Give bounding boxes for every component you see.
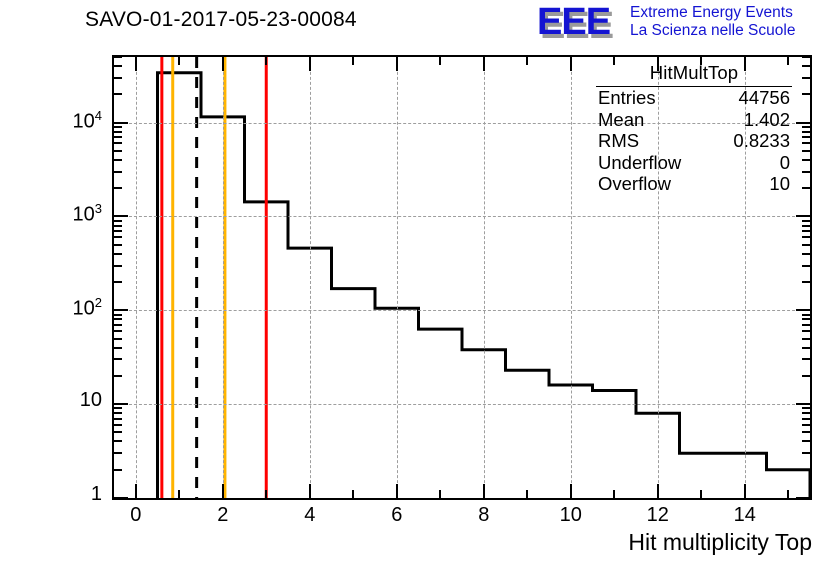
stats-box: HitMultTop Entries44756Mean1.402RMS0.823… xyxy=(596,62,792,197)
y-axis-tick-minor xyxy=(802,159,810,161)
x-gridline xyxy=(136,57,137,498)
y-axis-tick-minor xyxy=(114,469,122,471)
x-axis-tick-major xyxy=(309,484,311,498)
y-axis-tick-minor xyxy=(802,244,810,246)
y-axis-tick-minor xyxy=(802,56,810,58)
y-axis-tick-minor xyxy=(114,440,122,442)
y-axis-tick-major xyxy=(114,309,128,311)
y-axis-tick-major xyxy=(796,309,810,311)
x-axis-tick-minor xyxy=(178,57,180,65)
y-axis-tick-major xyxy=(796,403,810,405)
stats-row: Mean1.402 xyxy=(596,109,792,131)
y-axis-tick-minor xyxy=(802,314,810,316)
x-gridline xyxy=(397,57,398,498)
stats-row-value: 1.402 xyxy=(744,109,790,131)
y-axis-tick-major xyxy=(114,122,128,124)
y-axis-tick-minor xyxy=(114,318,122,320)
y-axis-tick-minor xyxy=(114,131,122,133)
stats-row-value: 10 xyxy=(769,173,790,195)
y-axis-tick-minor xyxy=(802,136,810,138)
stats-row-key: RMS xyxy=(598,130,639,152)
y-axis-tick-minor xyxy=(114,418,122,420)
x-axis-tick-minor xyxy=(265,490,267,498)
y-axis-tick-minor xyxy=(802,220,810,222)
page-title: SAVO-01-2017-05-23-00084 xyxy=(85,8,357,32)
y-axis-tick-minor xyxy=(802,171,810,173)
y-axis-tick-major xyxy=(114,215,128,217)
eee-logo-line1: Extreme Energy Events xyxy=(630,4,795,22)
x-axis-tick-minor xyxy=(787,490,789,498)
x-axis-tick-major xyxy=(483,484,485,498)
x-axis-tick-minor xyxy=(265,57,267,65)
y-axis-tick-major xyxy=(114,403,128,405)
y-axis-tick-minor xyxy=(114,330,122,332)
x-axis-tick-minor xyxy=(526,57,528,65)
y-axis-tick-minor xyxy=(802,131,810,133)
stats-row-key: Underflow xyxy=(598,152,681,174)
x-gridline xyxy=(571,57,572,498)
stats-row-key: Entries xyxy=(598,87,656,109)
y-axis-tick-minor xyxy=(802,187,810,189)
x-gridline xyxy=(223,57,224,498)
stats-row: Underflow0 xyxy=(596,152,792,174)
y-axis-tick-minor xyxy=(114,77,122,79)
y-axis-tick-minor xyxy=(114,142,122,144)
y-axis-tick-minor xyxy=(114,244,122,246)
x-axis-label: 10 xyxy=(541,504,601,527)
y-axis-tick-minor xyxy=(114,65,122,67)
x-axis-tick-minor xyxy=(178,490,180,498)
y-axis-tick-minor xyxy=(802,230,810,232)
y-axis-tick-minor xyxy=(802,126,810,128)
y-axis-tick-minor xyxy=(114,407,122,409)
eee-logo-line2: La Scienza nelle Scuole xyxy=(630,22,795,40)
y-axis-tick-minor xyxy=(114,431,122,433)
y-axis-tick-minor xyxy=(114,253,122,255)
root-canvas: SAVO-01-2017-05-23-00084 EEE Extreme Ene… xyxy=(0,0,836,572)
y-axis-tick-minor xyxy=(114,230,122,232)
y-axis-label: 102 xyxy=(0,295,102,321)
y-axis-label: 10 xyxy=(0,389,102,412)
y-gridline xyxy=(114,310,810,311)
x-axis-tick-minor xyxy=(439,490,441,498)
y-gridline xyxy=(114,216,810,217)
y-axis-tick-major xyxy=(796,215,810,217)
y-axis-tick-minor xyxy=(114,220,122,222)
eee-logo: EEE Extreme Energy Events La Scienza nel… xyxy=(537,2,833,42)
stats-title: HitMultTop xyxy=(596,62,792,87)
y-axis-tick-minor xyxy=(114,56,122,58)
y-axis-tick-minor xyxy=(802,440,810,442)
stats-row-key: Mean xyxy=(598,109,644,131)
x-axis-tick-major xyxy=(483,57,485,71)
y-axis-tick-major xyxy=(796,122,810,124)
y-axis-tick-minor xyxy=(802,324,810,326)
x-axis-tick-major xyxy=(396,484,398,498)
y-axis-tick-minor xyxy=(802,93,810,95)
stats-row: Overflow10 xyxy=(596,173,792,195)
y-axis-label: 103 xyxy=(0,201,102,227)
y-axis-tick-minor xyxy=(802,469,810,471)
y-axis-tick-minor xyxy=(802,142,810,144)
y-axis-tick-major xyxy=(114,497,128,499)
y-axis-tick-minor xyxy=(802,265,810,267)
x-axis-tick-major xyxy=(570,57,572,71)
y-axis-tick-minor xyxy=(802,253,810,255)
y-axis-tick-minor xyxy=(114,358,122,360)
stats-row-value: 0 xyxy=(780,152,790,174)
x-axis-tick-major xyxy=(744,484,746,498)
y-axis-tick-minor xyxy=(802,77,810,79)
y-axis-tick-minor xyxy=(114,236,122,238)
y-axis-tick-minor xyxy=(114,265,122,267)
stats-row: Entries44756 xyxy=(596,87,792,109)
y-axis-tick-minor xyxy=(114,347,122,349)
y-axis-tick-minor xyxy=(114,93,122,95)
y-axis-tick-minor xyxy=(802,330,810,332)
x-axis-title: Hit multiplicity Top xyxy=(628,529,812,556)
y-axis-tick-minor xyxy=(802,347,810,349)
x-axis-tick-minor xyxy=(352,490,354,498)
stats-row: RMS0.8233 xyxy=(596,130,792,152)
x-gridline xyxy=(310,57,311,498)
y-axis-tick-minor xyxy=(114,136,122,138)
y-axis-tick-minor xyxy=(802,281,810,283)
x-axis-label: 14 xyxy=(715,504,775,527)
x-axis-tick-major xyxy=(396,57,398,71)
x-axis-label: 6 xyxy=(367,504,427,527)
x-axis-tick-major xyxy=(309,57,311,71)
y-axis-tick-minor xyxy=(114,150,122,152)
y-axis-tick-minor xyxy=(114,375,122,377)
x-axis-label: 4 xyxy=(280,504,340,527)
y-axis-tick-minor xyxy=(114,314,122,316)
x-axis-tick-minor xyxy=(613,490,615,498)
x-axis-tick-minor xyxy=(352,57,354,65)
y-axis-tick-minor xyxy=(802,358,810,360)
y-axis-tick-minor xyxy=(802,225,810,227)
x-axis-label: 2 xyxy=(193,504,253,527)
x-axis-tick-major xyxy=(135,484,137,498)
eee-logo-letters: EEE xyxy=(537,3,610,41)
y-axis-tick-minor xyxy=(802,236,810,238)
y-axis-tick-minor xyxy=(114,452,122,454)
y-axis-tick-minor xyxy=(114,171,122,173)
x-gridline xyxy=(484,57,485,498)
y-axis-tick-minor xyxy=(802,407,810,409)
y-axis-tick-minor xyxy=(802,318,810,320)
y-axis-tick-major xyxy=(796,497,810,499)
y-axis-tick-minor xyxy=(114,338,122,340)
y-axis-tick-minor xyxy=(114,281,122,283)
x-axis-tick-major xyxy=(222,57,224,71)
y-axis-tick-minor xyxy=(114,159,122,161)
y-gridline xyxy=(114,404,810,405)
eee-logo-text: Extreme Energy Events La Scienza nelle S… xyxy=(630,4,795,39)
x-axis-tick-major xyxy=(135,57,137,71)
x-axis-label: 12 xyxy=(628,504,688,527)
y-axis-tick-minor xyxy=(114,324,122,326)
y-axis-tick-minor xyxy=(114,412,122,414)
x-axis-label: 0 xyxy=(106,504,166,527)
x-axis-tick-major xyxy=(657,484,659,498)
stats-row-value: 0.8233 xyxy=(733,130,790,152)
y-axis-tick-minor xyxy=(802,431,810,433)
stats-row-key: Overflow xyxy=(598,173,671,195)
x-axis-label: 8 xyxy=(454,504,514,527)
y-axis-tick-minor xyxy=(802,452,810,454)
y-axis-tick-minor xyxy=(802,65,810,67)
y-axis-label: 104 xyxy=(0,108,102,134)
y-axis-tick-minor xyxy=(802,424,810,426)
x-axis-tick-major xyxy=(570,484,572,498)
y-axis-tick-minor xyxy=(114,187,122,189)
x-axis-tick-minor xyxy=(700,490,702,498)
x-axis-tick-major xyxy=(222,484,224,498)
y-axis-tick-minor xyxy=(114,424,122,426)
y-axis-tick-minor xyxy=(802,375,810,377)
x-axis-tick-minor xyxy=(439,57,441,65)
y-axis-tick-minor xyxy=(802,150,810,152)
y-axis-tick-minor xyxy=(802,338,810,340)
y-axis-tick-minor xyxy=(114,225,122,227)
y-axis-label: 1 xyxy=(0,483,102,506)
x-axis-tick-minor xyxy=(526,490,528,498)
y-axis-tick-minor xyxy=(802,418,810,420)
stats-row-value: 44756 xyxy=(739,87,790,109)
y-axis-tick-minor xyxy=(114,126,122,128)
y-axis-tick-minor xyxy=(802,412,810,414)
